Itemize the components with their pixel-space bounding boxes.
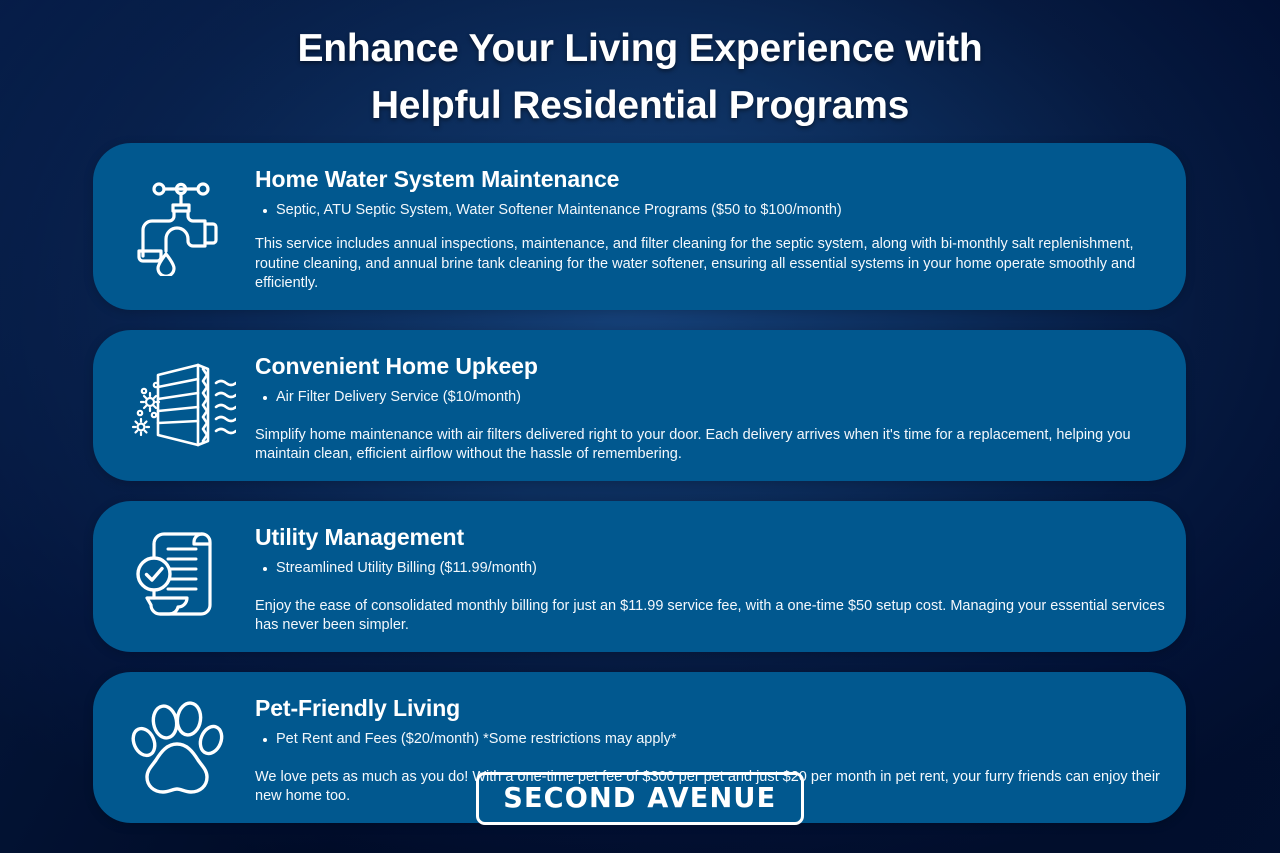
card-body: Utility Management Streamlined Utility B… xyxy=(255,515,1174,636)
page-title-line-2: Helpful Residential Programs xyxy=(0,77,1280,134)
program-card[interactable]: Convenient Home Upkeep Air Filter Delive… xyxy=(93,330,1186,481)
card-bullet-list: Septic, ATU Septic System, Water Softene… xyxy=(255,200,1166,221)
card-title: Pet-Friendly Living xyxy=(255,694,1166,722)
air-filter-icon xyxy=(105,355,255,453)
card-bullet: Streamlined Utility Billing ($11.99/mont… xyxy=(255,558,1166,579)
page-title: Enhance Your Living Experience with Help… xyxy=(0,20,1280,134)
logo-text: SECOND AVENUE xyxy=(503,783,776,813)
card-bullet-list: Air Filter Delivery Service ($10/month) xyxy=(255,387,1166,408)
page-header: Enhance Your Living Experience with Help… xyxy=(0,20,1280,134)
program-card-list: Home Water System Maintenance Septic, AT… xyxy=(93,143,1186,843)
program-card[interactable]: Utility Management Streamlined Utility B… xyxy=(93,501,1186,652)
card-bullet-list: Streamlined Utility Billing ($11.99/mont… xyxy=(255,558,1166,579)
page-title-line-1: Enhance Your Living Experience with xyxy=(0,20,1280,77)
card-bullet: Air Filter Delivery Service ($10/month) xyxy=(255,387,1166,408)
card-description: This service includes annual inspections… xyxy=(255,235,1166,294)
footer: SECOND AVENUE xyxy=(0,772,1280,825)
card-body: Convenient Home Upkeep Air Filter Delive… xyxy=(255,344,1174,465)
faucet-icon xyxy=(105,174,255,276)
card-description: Simplify home maintenance with air filte… xyxy=(255,426,1166,465)
infographic-page: Enhance Your Living Experience with Help… xyxy=(0,0,1280,853)
document-check-icon xyxy=(105,524,255,626)
program-card[interactable]: Home Water System Maintenance Septic, AT… xyxy=(93,143,1186,310)
card-bullet-list: Pet Rent and Fees ($20/month) *Some rest… xyxy=(255,729,1166,750)
card-title: Convenient Home Upkeep xyxy=(255,352,1166,380)
card-description: Enjoy the ease of consolidated monthly b… xyxy=(255,597,1166,636)
card-title: Utility Management xyxy=(255,523,1166,551)
card-title: Home Water System Maintenance xyxy=(255,165,1166,193)
card-bullet: Septic, ATU Septic System, Water Softene… xyxy=(255,200,1166,221)
card-bullet: Pet Rent and Fees ($20/month) *Some rest… xyxy=(255,729,1166,750)
card-body: Home Water System Maintenance Septic, AT… xyxy=(255,157,1174,294)
second-avenue-logo[interactable]: SECOND AVENUE xyxy=(476,772,804,825)
